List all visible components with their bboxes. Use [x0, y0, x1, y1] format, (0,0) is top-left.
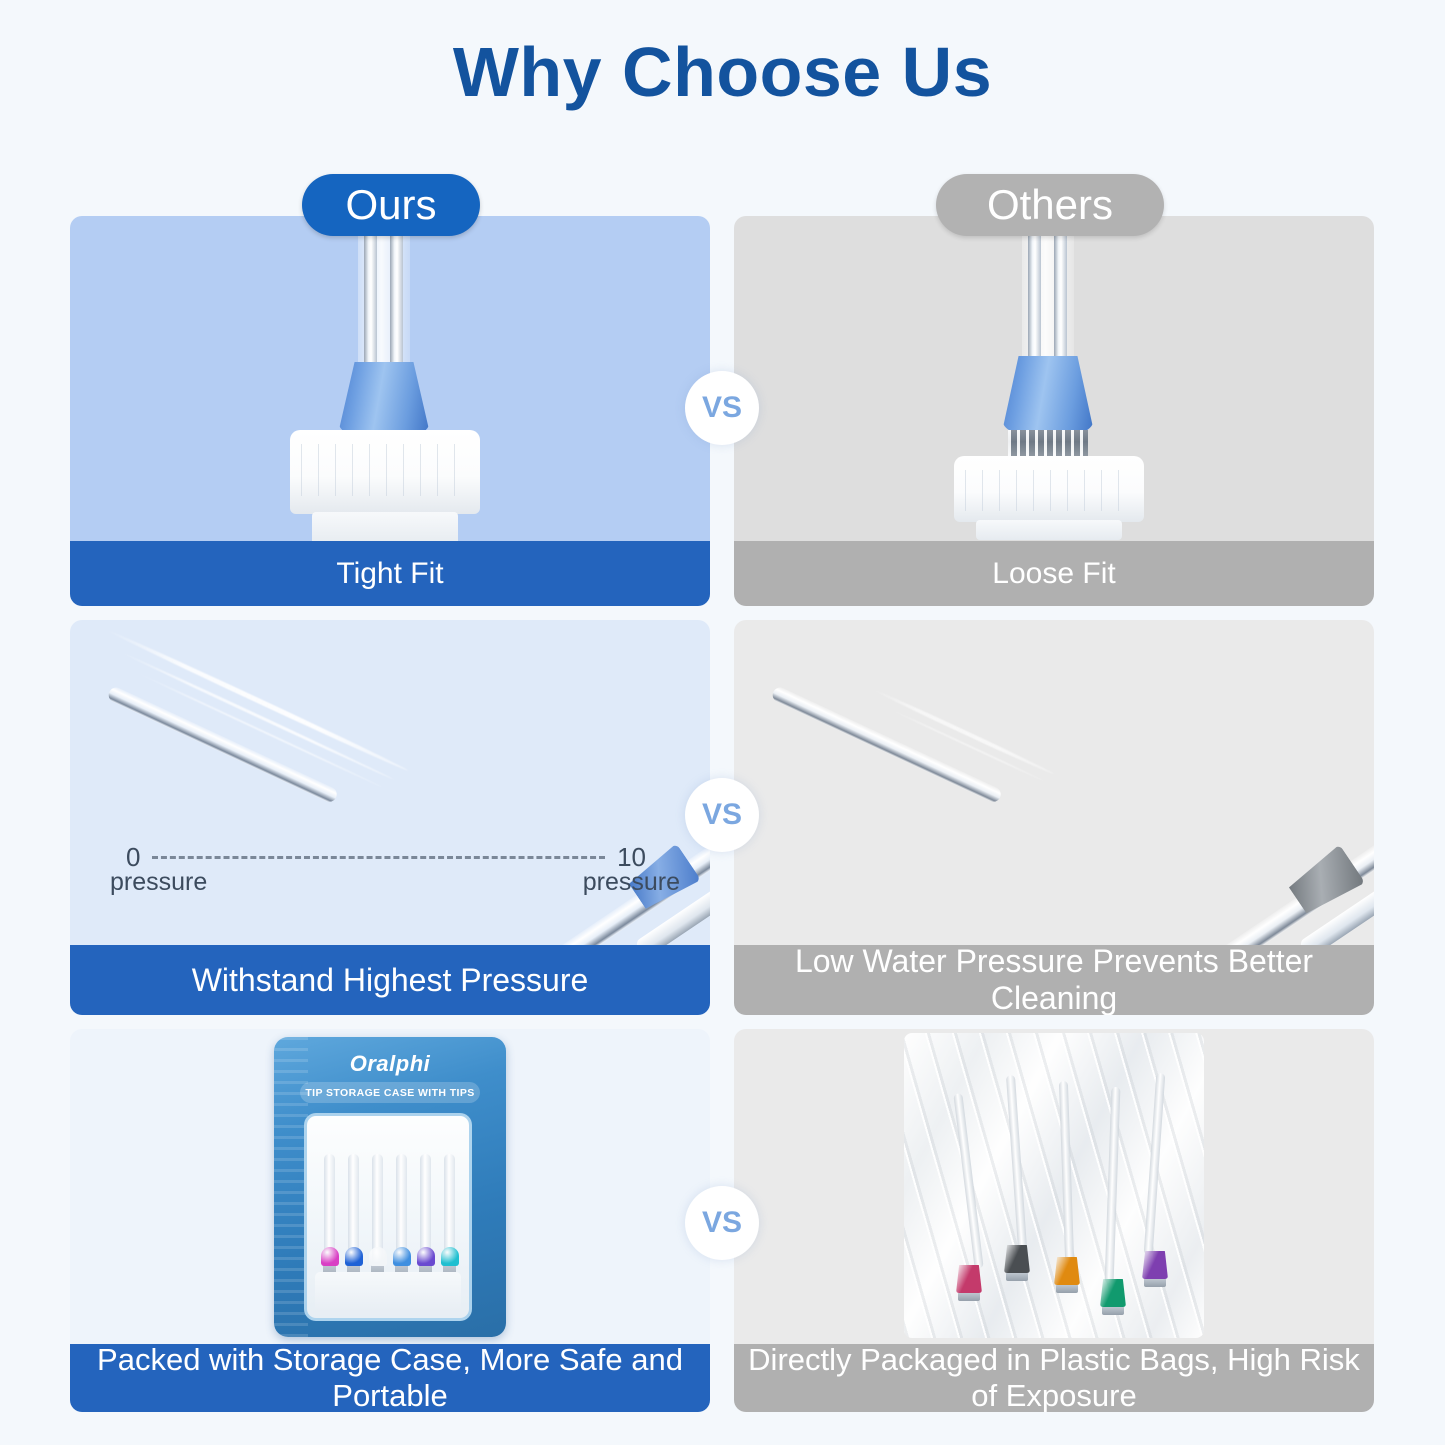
water-jet-stream [890, 708, 1045, 782]
water-flosser-nozzle-head-tight-icon [260, 216, 520, 541]
caption-text: Low Water Pressure Prevents Better Clean… [744, 943, 1364, 1015]
pressure-dashed-line [152, 856, 605, 859]
caption-text: Directly Packaged in Plastic Bags, High … [744, 1342, 1364, 1412]
media-others-bent-nozzle [734, 620, 1374, 945]
bag-tip-color-cap [1004, 1245, 1030, 1273]
caption-text: Loose Fit [992, 557, 1115, 591]
caption-text: Packed with Storage Case, More Safe and … [80, 1342, 700, 1412]
bag-tip-color-cap [1142, 1251, 1168, 1279]
caption-bar-others-row1: Loose Fit [734, 541, 1374, 606]
caption-text: Tight Fit [336, 557, 443, 591]
panel-ours-storage-case: Oralphi TIP STORAGE CASE WITH TIPS Packe… [70, 1029, 710, 1412]
storage-case-inner [304, 1113, 472, 1321]
nozzle-prong [1054, 222, 1067, 372]
tip-color-cap [417, 1247, 435, 1266]
pressure-scale: 0 10 pressure pressure [126, 842, 646, 904]
tip-color-cap [441, 1247, 459, 1266]
panel-others-loose-fit: Loose Fit [734, 216, 1374, 606]
nozzle-prong [364, 222, 377, 372]
column-badge-ours-label: Ours [345, 181, 436, 229]
column-badge-others: Others [936, 174, 1164, 236]
tip-color-cap [345, 1247, 363, 1266]
media-ours-nozzle-head [70, 216, 710, 541]
panel-ours-high-pressure: 0 10 pressure pressure Withstand Highest… [70, 620, 710, 1015]
bag-tip-tube [1006, 1075, 1027, 1249]
vs-label: VS [702, 391, 742, 425]
nozzle-upper-segment [106, 685, 339, 804]
bag-tip-tube [1144, 1073, 1166, 1255]
media-ours-bent-nozzle: 0 10 pressure pressure [70, 620, 710, 945]
nozzle-blue-collar [1002, 356, 1094, 432]
bent-nozzle-weak-jet-icon [734, 620, 1374, 945]
caption-bar-ours-row1: Tight Fit [70, 541, 710, 606]
tip-color-cap [369, 1247, 387, 1266]
bag-tip-metal-collar [958, 1292, 980, 1301]
panel-others-plastic-bag: Directly Packaged in Plastic Bags, High … [734, 1029, 1374, 1412]
nozzle-base-foot [976, 520, 1122, 540]
column-badge-others-label: Others [987, 181, 1113, 229]
water-flosser-nozzle-head-loose-icon [924, 216, 1184, 541]
bag-tip-metal-collar [1144, 1278, 1166, 1287]
bag-tip-metal-collar [1006, 1272, 1028, 1281]
vs-badge-row2: VS [685, 778, 759, 852]
pressure-min-label: pressure [110, 868, 207, 897]
bag-tip-color-cap [956, 1265, 982, 1293]
nozzle-exposed-metal-gap [1008, 430, 1088, 456]
panel-others-low-pressure: Low Water Pressure Prevents Better Clean… [734, 620, 1374, 1015]
tip-color-cap [393, 1247, 411, 1266]
caption-text: Withstand Highest Pressure [192, 962, 589, 999]
caption-bar-others-row2: Low Water Pressure Prevents Better Clean… [734, 945, 1374, 1015]
bag-tip-tube [1059, 1081, 1074, 1261]
caption-bar-others-row3: Directly Packaged in Plastic Bags, High … [734, 1344, 1374, 1412]
nozzle-white-base [954, 456, 1144, 522]
water-jet-stream [872, 688, 1055, 776]
bag-tip-tube [1105, 1087, 1121, 1283]
nozzle-prong [390, 222, 403, 372]
vs-label: VS [702, 1206, 742, 1240]
brand-name: Oralphi [274, 1051, 506, 1077]
caption-bar-ours-row3: Packed with Storage Case, More Safe and … [70, 1344, 710, 1412]
media-others-nozzle-head [734, 216, 1374, 541]
panel-ours-tight-fit: Tight Fit [70, 216, 710, 606]
media-ours-blister-pack: Oralphi TIP STORAGE CASE WITH TIPS [70, 1029, 710, 1344]
pressure-scale-labels: pressure pressure [126, 868, 646, 897]
nozzle-base-foot [312, 512, 458, 541]
page-title: Why Choose Us [0, 32, 1445, 112]
column-badge-ours: Ours [302, 174, 480, 236]
package-subtitle: TIP STORAGE CASE WITH TIPS [300, 1082, 480, 1103]
vs-label: VS [702, 798, 742, 832]
bag-tip-color-cap [1054, 1257, 1080, 1285]
nozzle-blue-collar [338, 362, 430, 434]
pressure-max-label: pressure [583, 868, 680, 897]
caption-bar-ours-row2: Withstand Highest Pressure [70, 945, 710, 1015]
bag-tip-tube [953, 1093, 983, 1269]
media-others-plastic-bag [734, 1029, 1374, 1344]
bag-tip-color-cap [1100, 1279, 1126, 1307]
why-choose-us-comparison-page: Why Choose Us Ours Others Tight Fit [0, 0, 1445, 1445]
tip-color-cap [321, 1247, 339, 1266]
storage-case-base-strip [315, 1272, 461, 1312]
vs-badge-row1: VS [685, 371, 759, 445]
bag-tip-metal-collar [1056, 1284, 1078, 1293]
blister-pack-tip-storage-case-icon: Oralphi TIP STORAGE CASE WITH TIPS [274, 1037, 506, 1337]
water-jet-stream [108, 629, 409, 773]
bag-tip-metal-collar [1102, 1306, 1124, 1315]
vs-badge-row3: VS [685, 1186, 759, 1260]
nozzle-white-base [290, 430, 480, 514]
loose-tips-in-plastic-bag-icon [904, 1033, 1204, 1338]
nozzle-prong [1028, 222, 1041, 372]
